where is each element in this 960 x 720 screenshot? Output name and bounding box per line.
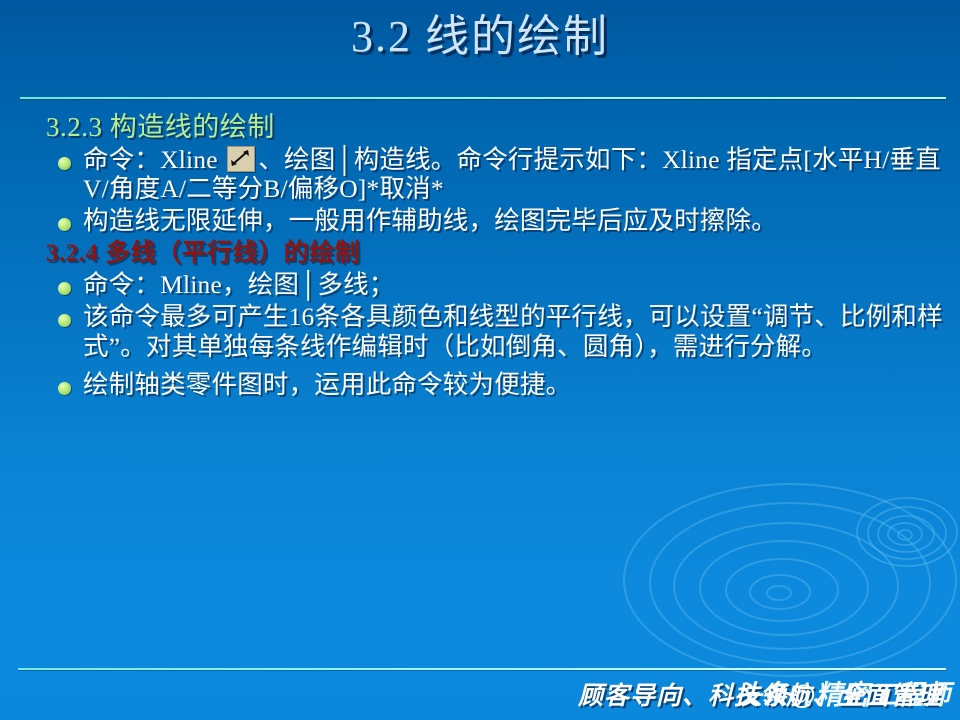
bullet-item: 命令：Mline，绘图│多线； (0, 270, 960, 300)
bullet-dot-icon (58, 314, 71, 327)
watermark-text: 头条@精密工程师 (735, 673, 950, 712)
bullet-item: 构造线无限延伸，一般用作辅助线，绘图完毕后应及时擦除。 (0, 206, 960, 236)
bullet-text: 命令：Xline 、绘图│构造线。命令行提示如下：Xline 指定点[水平H/垂… (83, 145, 946, 205)
bullet-text: 绘制轴类零件图时，运用此命令较为便捷。 (83, 370, 946, 400)
bullet-item: 该命令最多可产生16条各具颜色和线型的平行线，可以设置“调节、比例和样式”。对其… (0, 302, 960, 362)
bullet-item: 命令：Xline 、绘图│构造线。命令行提示如下：Xline 指定点[水平H/垂… (0, 145, 960, 205)
bullet-text-prefix: 命令：Xline (83, 145, 224, 174)
bullet-text: 命令：Mline，绘图│多线； (83, 270, 946, 300)
bullet-item: 绘制轴类零件图时，运用此命令较为便捷。 (0, 370, 960, 400)
bullet-text: 该命令最多可产生16条各具颜色和线型的平行线，可以设置“调节、比例和样式”。对其… (83, 302, 946, 362)
bullet-dot-icon (58, 382, 71, 395)
section-heading-324: 3.2.4 多线（平行线）的绘制 (46, 240, 960, 268)
bullet-dot-icon (58, 157, 71, 170)
slide-title: 3.2 线的绘制 (351, 14, 609, 60)
footer-divider (18, 668, 946, 670)
ripple-decoration-large (620, 480, 960, 680)
presentation-slide: 3.2 线的绘制 3.2.3 构造线的绘制 命令：Xline 、绘图│构造线。命… (0, 0, 960, 720)
ripple-decoration-small (855, 495, 960, 570)
section-heading-323: 3.2.3 构造线的绘制 (46, 112, 960, 143)
bullet-text: 构造线无限延伸，一般用作辅助线，绘图完毕后应及时擦除。 (83, 206, 946, 236)
slide-body: 3.2.3 构造线的绘制 命令：Xline 、绘图│构造线。命令行提示如下：Xl… (0, 106, 960, 400)
bullet-dot-icon (58, 282, 71, 295)
bullet-dot-icon (58, 218, 71, 231)
slide-title-bar: 3.2 线的绘制 (0, 14, 960, 60)
title-divider (20, 97, 946, 99)
xline-toolbar-icon[interactable] (227, 146, 255, 172)
